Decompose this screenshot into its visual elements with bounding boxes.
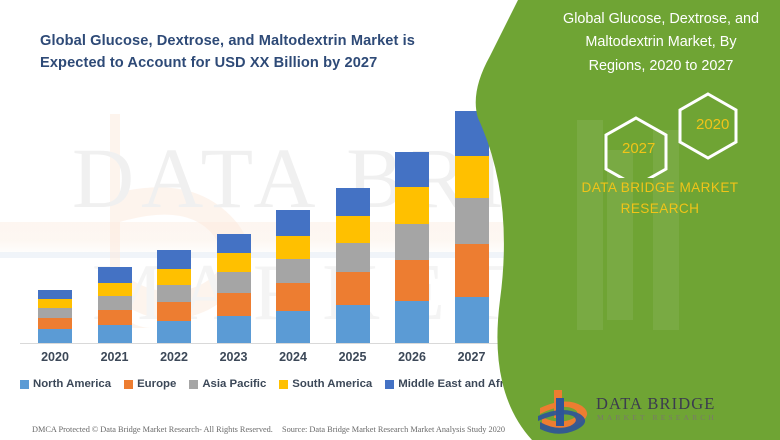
bar-segment-south-america[interactable]	[336, 216, 370, 243]
panel-subtitle: DATA BRIDGE MARKET RESEARCH	[546, 178, 774, 219]
bar-segment-middle-east-and-africa[interactable]	[38, 290, 72, 299]
bar-segment-europe[interactable]	[217, 293, 251, 316]
footer: DMCA Protected © Data Bridge Market Rese…	[0, 418, 520, 440]
bar-segment-middle-east-and-africa[interactable]	[157, 250, 191, 269]
logo-name-line1: DATA BRIDGE	[596, 394, 715, 414]
x-axis-label-2022: 2022	[144, 350, 204, 364]
bar-segment-south-america[interactable]	[217, 253, 251, 272]
bar-segment-north-america[interactable]	[217, 316, 251, 343]
legend-item-asia-pacific[interactable]: Asia Pacific	[189, 378, 266, 390]
x-axis-label-2024: 2024	[263, 350, 323, 364]
hexagon-label-front: 2027	[622, 140, 655, 157]
logo-name-line2: MARKET RESEARCH	[597, 413, 717, 422]
bar-segment-europe[interactable]	[98, 310, 132, 325]
x-axis-label-2023: 2023	[204, 350, 264, 364]
bar-segment-europe[interactable]	[336, 272, 370, 305]
legend-swatch-icon	[189, 380, 198, 389]
hexagon-label-back: 2020	[696, 116, 729, 133]
legend-label: South America	[292, 378, 372, 390]
databridge-b-icon	[536, 388, 594, 434]
bar-segment-south-america[interactable]	[276, 236, 310, 259]
bar-segment-middle-east-and-africa[interactable]	[276, 210, 310, 236]
chart-legend: North AmericaEuropeAsia PacificSouth Ame…	[24, 374, 516, 394]
bar-segment-south-america[interactable]	[98, 283, 132, 296]
bar-segment-north-america[interactable]	[395, 301, 429, 343]
bar-segment-asia-pacific[interactable]	[276, 259, 310, 283]
brand-logo: DATA BRIDGE MARKET RESEARCH	[536, 388, 766, 434]
bar-segment-south-america[interactable]	[38, 299, 72, 308]
infographic-canvas: DATA BRIDGE MARKET RESEARCH Global Gluco…	[0, 0, 780, 440]
legend-label: Asia Pacific	[202, 378, 266, 390]
legend-label: North America	[33, 378, 111, 390]
bar-segment-middle-east-and-africa[interactable]	[336, 188, 370, 216]
bar-segment-asia-pacific[interactable]	[217, 272, 251, 293]
bar-segment-south-america[interactable]	[395, 187, 429, 224]
legend-item-europe[interactable]: Europe	[124, 378, 176, 390]
x-axis-label-2021: 2021	[85, 350, 145, 364]
x-axis-label-2025: 2025	[323, 350, 383, 364]
bar-segment-north-america[interactable]	[98, 325, 132, 343]
panel-title: Global Glucose, Dextrose, and Maltodextr…	[558, 8, 764, 78]
bar-segment-asia-pacific[interactable]	[336, 243, 370, 272]
bar-2020[interactable]	[38, 290, 72, 343]
bar-segment-europe[interactable]	[38, 318, 72, 329]
legend-swatch-icon	[385, 380, 394, 389]
x-axis-line	[20, 343, 510, 344]
bar-segment-middle-east-and-africa[interactable]	[395, 152, 429, 187]
legend-swatch-icon	[20, 380, 29, 389]
bar-2024[interactable]	[276, 210, 310, 343]
footer-copyright: DMCA Protected © Data Bridge Market Rese…	[32, 425, 273, 434]
bar-2022[interactable]	[157, 250, 191, 343]
bar-segment-asia-pacific[interactable]	[38, 308, 72, 318]
bar-segment-europe[interactable]	[157, 302, 191, 321]
bar-segment-asia-pacific[interactable]	[157, 285, 191, 302]
hexagon-group: 2020 2027	[590, 88, 750, 178]
bar-segment-south-america[interactable]	[157, 269, 191, 285]
bar-segment-middle-east-and-africa[interactable]	[217, 234, 251, 253]
bar-segment-asia-pacific[interactable]	[98, 296, 132, 310]
hexagon-shapes-icon	[590, 88, 750, 178]
legend-item-north-america[interactable]: North America	[20, 378, 111, 390]
legend-item-south-america[interactable]: South America	[279, 378, 372, 390]
bar-2025[interactable]	[336, 188, 370, 343]
legend-swatch-icon	[124, 380, 133, 389]
bar-segment-asia-pacific[interactable]	[395, 224, 429, 260]
bar-segment-north-america[interactable]	[157, 321, 191, 343]
bar-segment-north-america[interactable]	[38, 329, 72, 343]
bar-2026[interactable]	[395, 152, 429, 343]
bar-segment-north-america[interactable]	[336, 305, 370, 343]
bar-2023[interactable]	[217, 234, 251, 343]
bar-2021[interactable]	[98, 267, 132, 343]
bar-segment-europe[interactable]	[395, 260, 429, 301]
legend-swatch-icon	[279, 380, 288, 389]
legend-label: Europe	[137, 378, 176, 390]
x-axis-label-2020: 2020	[25, 350, 85, 364]
bar-segment-europe[interactable]	[276, 283, 310, 311]
bar-segment-middle-east-and-africa[interactable]	[98, 267, 132, 283]
bar-segment-north-america[interactable]	[276, 311, 310, 343]
x-axis-label-2026: 2026	[382, 350, 442, 364]
